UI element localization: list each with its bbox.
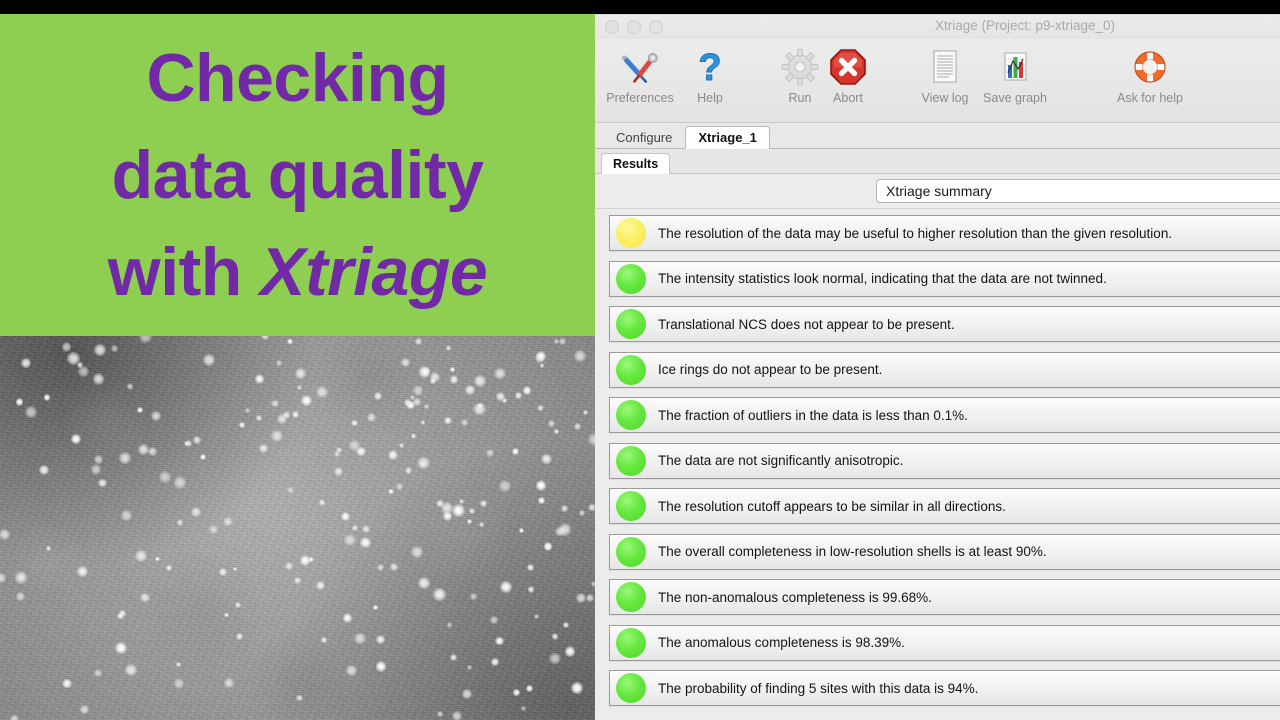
diffraction-spot	[540, 363, 545, 368]
diffraction-spot	[552, 633, 558, 639]
diffraction-spot	[376, 635, 385, 644]
toolbar-label-abort: Abort	[833, 91, 863, 105]
diffraction-spot	[586, 594, 594, 602]
diffraction-spot	[565, 646, 575, 656]
diffraction-spot	[184, 441, 189, 446]
diffraction-spot	[209, 525, 218, 534]
diffraction-spot	[537, 405, 543, 411]
diffraction-spot	[235, 602, 241, 608]
diffraction-spot	[444, 417, 452, 425]
diffraction-spot	[491, 658, 498, 665]
tab-xtriage-1[interactable]: Xtriage_1	[685, 126, 770, 149]
diffraction-spot	[480, 500, 487, 507]
slide-title-line-1: Checking	[146, 30, 448, 127]
project-tab-strip: Configure Xtriage_1	[595, 123, 1280, 149]
diffraction-spot	[334, 467, 343, 476]
diffraction-spot	[16, 592, 25, 601]
diffraction-spot	[538, 497, 545, 504]
slide-title-emphasis-word: Xtriage	[260, 234, 487, 310]
diffraction-spot	[415, 338, 421, 344]
toolbar-label-save-graph: Save graph	[983, 91, 1047, 105]
toolbar-label-view-log: View log	[921, 91, 968, 105]
toolbar-label-ask-for-help: Ask for help	[1117, 91, 1183, 105]
diffraction-spot	[236, 633, 243, 640]
diffraction-spot	[94, 669, 102, 677]
diffraction-spot	[452, 711, 462, 720]
diffraction-spot	[341, 512, 350, 521]
diffraction-spot	[176, 662, 181, 667]
results-row[interactable]: The probability of finding 5 sites with …	[609, 670, 1280, 706]
diffraction-spot	[346, 665, 357, 676]
diffraction-image	[0, 336, 595, 720]
results-row-text: The fraction of outliers in the data is …	[658, 408, 968, 423]
diffraction-spot	[549, 653, 560, 664]
diffraction-spot	[559, 523, 572, 536]
diffraction-spot	[399, 443, 404, 448]
diffraction-spot	[292, 411, 299, 418]
diffraction-spot	[554, 429, 558, 433]
diffraction-spot	[351, 420, 358, 427]
status-light-green-icon	[616, 582, 646, 612]
toolbar-label-run: Run	[789, 91, 812, 105]
diffraction-spot	[499, 480, 511, 492]
toolbar-button-abort[interactable]: Abort	[811, 45, 885, 105]
diffraction-spot	[159, 471, 171, 483]
diffraction-spot	[296, 695, 302, 701]
diffraction-spot	[117, 613, 123, 619]
diffraction-spot	[151, 411, 161, 421]
diffraction-spot	[98, 479, 106, 487]
diffraction-spot	[388, 450, 398, 460]
diffraction-spot	[470, 593, 476, 599]
diffraction-spot	[174, 678, 184, 688]
diffraction-spot	[287, 487, 294, 494]
results-row-text: The resolution cutoff appears to be simi…	[658, 499, 1006, 514]
diffraction-spot	[10, 715, 19, 720]
diffraction-spot	[94, 455, 103, 464]
diffraction-spot	[513, 689, 520, 696]
diffraction-spot	[446, 345, 452, 351]
stop-x-icon	[826, 45, 870, 89]
diffraction-spot	[224, 678, 234, 688]
diffraction-spot	[135, 550, 147, 562]
summary-selector-row: Xtriage summary	[595, 174, 1280, 209]
diffraction-spot	[21, 358, 31, 368]
diffraction-spot	[115, 642, 127, 654]
diffraction-spot	[191, 507, 201, 517]
diffraction-spot	[219, 568, 227, 576]
diffraction-spot	[294, 577, 301, 584]
diffraction-spot	[421, 367, 430, 376]
results-row-text: Ice rings do not appear to be present.	[658, 362, 882, 377]
results-row[interactable]: The non-anomalous completeness is 99.68%…	[609, 579, 1280, 615]
diffraction-spot	[319, 499, 325, 505]
diffraction-spot	[447, 622, 452, 627]
results-row-text: The resolution of the data may be useful…	[658, 226, 1172, 241]
diffraction-spot	[25, 406, 37, 418]
diffraction-spot	[411, 433, 416, 438]
diffraction-spot	[544, 542, 552, 550]
window-titlebar: Xtriage (Project: p9-xtriage_0)	[595, 14, 1280, 39]
diffraction-spot	[548, 420, 555, 427]
screenshot-root: Checking data quality with Xtriage Xtria…	[0, 0, 1280, 720]
diffraction-spot	[462, 689, 472, 699]
results-row-text: The overall completeness in low-resoluti…	[658, 544, 1047, 559]
diffraction-spot	[536, 351, 546, 361]
bar-chart-icon	[993, 45, 1037, 89]
diffraction-spot	[308, 557, 313, 562]
diffraction-spot	[200, 454, 206, 460]
diffraction-spot	[271, 430, 283, 442]
results-row-text: The data are not significantly anisotrop…	[658, 453, 903, 468]
diffraction-spot	[443, 511, 453, 521]
diffraction-spot	[519, 528, 524, 533]
diffraction-spot	[405, 467, 412, 474]
tab-configure[interactable]: Configure	[603, 126, 685, 149]
diffraction-spot	[526, 685, 533, 692]
diffraction-spot	[417, 457, 429, 469]
diffraction-spot	[295, 368, 306, 379]
xtriage-application-window: Xtriage (Project: p9-xtriage_0)	[595, 14, 1280, 720]
status-light-green-icon	[616, 309, 646, 339]
tools-icon	[618, 45, 662, 89]
diffraction-spot	[576, 593, 586, 603]
diffraction-spot	[224, 613, 228, 617]
diffraction-spot	[80, 705, 88, 713]
diffraction-spot	[125, 664, 137, 676]
diffraction-spot	[452, 504, 464, 516]
question-mark-icon: ?	[688, 45, 732, 89]
results-row[interactable]: Ice rings do not appear to be present.	[609, 352, 1280, 388]
toolbar-button-preferences[interactable]: Preferences	[603, 45, 677, 105]
diffraction-spot	[437, 711, 442, 716]
toolbar-button-view-log[interactable]: View log	[908, 45, 982, 105]
diffraction-spot	[352, 525, 358, 531]
diffraction-spot	[138, 444, 149, 455]
main-toolbar: Preferences ? Help	[595, 39, 1280, 123]
diffraction-spot	[495, 637, 504, 646]
svg-text:?: ?	[698, 47, 721, 87]
diffraction-spot	[559, 338, 566, 345]
diffraction-spot	[255, 374, 264, 383]
diffraction-spot	[174, 476, 186, 488]
toolbar-button-help[interactable]: ? Help	[673, 45, 747, 105]
results-list[interactable]: The resolution of the data may be useful…	[595, 209, 1280, 715]
diffraction-spot	[316, 386, 328, 398]
diffraction-spot	[515, 392, 521, 398]
results-row-text: The probability of finding 5 sites with …	[658, 681, 978, 696]
diffraction-spot	[377, 564, 384, 571]
diffraction-noise-grain	[0, 336, 595, 720]
diffraction-spot	[321, 637, 326, 642]
results-row[interactable]: The data are not significantly anisotrop…	[609, 443, 1280, 479]
status-light-green-icon	[616, 446, 646, 476]
diffraction-spot	[433, 588, 446, 601]
diffraction-spot	[177, 519, 183, 525]
results-row[interactable]: The fraction of outliers in the data is …	[609, 397, 1280, 433]
results-row[interactable]: Translational NCS does not appear to be …	[609, 306, 1280, 342]
diffraction-spot	[354, 633, 366, 645]
diffraction-spot	[536, 480, 547, 491]
diffraction-spot	[421, 420, 426, 425]
toolbar-button-save-graph[interactable]: Save graph	[978, 45, 1052, 105]
results-row-text: Translational NCS does not appear to be …	[658, 317, 955, 332]
diffraction-spot	[62, 342, 71, 351]
diffraction-spot	[111, 345, 118, 352]
diffraction-spot	[494, 368, 505, 379]
diffraction-spot	[44, 394, 51, 401]
diffraction-spot	[424, 404, 429, 409]
diffraction-spot	[301, 395, 312, 406]
diffraction-spot	[588, 504, 595, 512]
diffraction-spot	[155, 557, 160, 562]
diffraction-spot	[490, 616, 498, 624]
diffraction-spot	[588, 433, 595, 446]
diffraction-spot	[459, 499, 464, 504]
diffraction-spot	[450, 367, 455, 372]
diffraction-spot	[77, 566, 88, 577]
results-row-text: The non-anomalous completeness is 99.68%…	[658, 590, 932, 605]
diffraction-spot	[259, 444, 268, 453]
toolbar-label-help: Help	[697, 91, 723, 105]
slide-title-line-3: with Xtriage	[108, 224, 487, 321]
diffraction-spot	[93, 373, 104, 384]
diffraction-spot	[283, 411, 291, 419]
status-light-yellow-icon	[616, 218, 646, 248]
diffraction-spot	[78, 366, 89, 377]
results-row[interactable]: The intensity statistics look normal, in…	[609, 261, 1280, 297]
diffraction-spot	[467, 665, 472, 670]
status-light-green-icon	[616, 355, 646, 385]
slide-title-line-2: data quality	[112, 127, 484, 224]
window-title: Xtriage (Project: p9-xtriage_0)	[595, 18, 1280, 33]
diffraction-spot	[474, 375, 486, 387]
diffraction-spot	[362, 525, 371, 534]
diffraction-spot	[137, 407, 143, 413]
summary-combo-box[interactable]: Xtriage summary	[876, 179, 1280, 203]
diffraction-spot	[367, 413, 376, 422]
diffraction-spot	[0, 529, 10, 540]
document-icon	[923, 45, 967, 89]
diffraction-spot	[413, 385, 424, 396]
results-row-text: The intensity statistics look normal, in…	[658, 271, 1107, 286]
status-light-green-icon	[616, 264, 646, 294]
results-row[interactable]: The resolution of the data may be useful…	[609, 215, 1280, 251]
diffraction-spot	[404, 399, 411, 406]
diffraction-spot	[523, 386, 532, 395]
diffraction-spot	[119, 452, 131, 464]
slide-title-card: Checking data quality with Xtriage	[0, 14, 595, 336]
diffraction-spot	[223, 517, 232, 526]
results-row[interactable]: The resolution cutoff appears to be simi…	[609, 488, 1280, 524]
results-row-text: The anomalous completeness is 98.39%.	[658, 635, 905, 650]
diffraction-spot	[500, 581, 512, 593]
diffraction-spot	[374, 392, 382, 400]
results-row[interactable]: The anomalous completeness is 98.39%.	[609, 625, 1280, 661]
diffraction-spot	[62, 679, 71, 688]
diffraction-spot	[436, 500, 444, 508]
toolbar-button-ask-for-help[interactable]: Ask for help	[1113, 45, 1187, 105]
status-light-green-icon	[616, 491, 646, 521]
summary-combo-value: Xtriage summary	[886, 183, 992, 199]
tab-results[interactable]: Results	[601, 153, 670, 174]
diffraction-spot	[271, 400, 278, 407]
status-light-green-icon	[616, 537, 646, 567]
diffraction-spot	[15, 571, 27, 583]
diffraction-spot	[411, 546, 423, 558]
results-tab-strip: Results	[595, 149, 1280, 174]
status-light-green-icon	[616, 628, 646, 658]
presentation-slide-panel: Checking data quality with Xtriage	[0, 0, 595, 720]
results-row[interactable]: The overall completeness in low-resoluti…	[609, 534, 1280, 570]
diffraction-spot	[67, 352, 79, 364]
diffraction-spot	[245, 408, 250, 413]
status-light-green-icon	[616, 400, 646, 430]
diffraction-spot	[127, 383, 133, 389]
diffraction-spot	[450, 654, 457, 661]
status-light-green-icon	[616, 673, 646, 703]
diffraction-spot	[46, 546, 51, 551]
toolbar-label-preferences: Preferences	[606, 91, 673, 105]
life-ring-icon	[1128, 45, 1172, 89]
slide-title-with-word: with	[108, 234, 260, 310]
